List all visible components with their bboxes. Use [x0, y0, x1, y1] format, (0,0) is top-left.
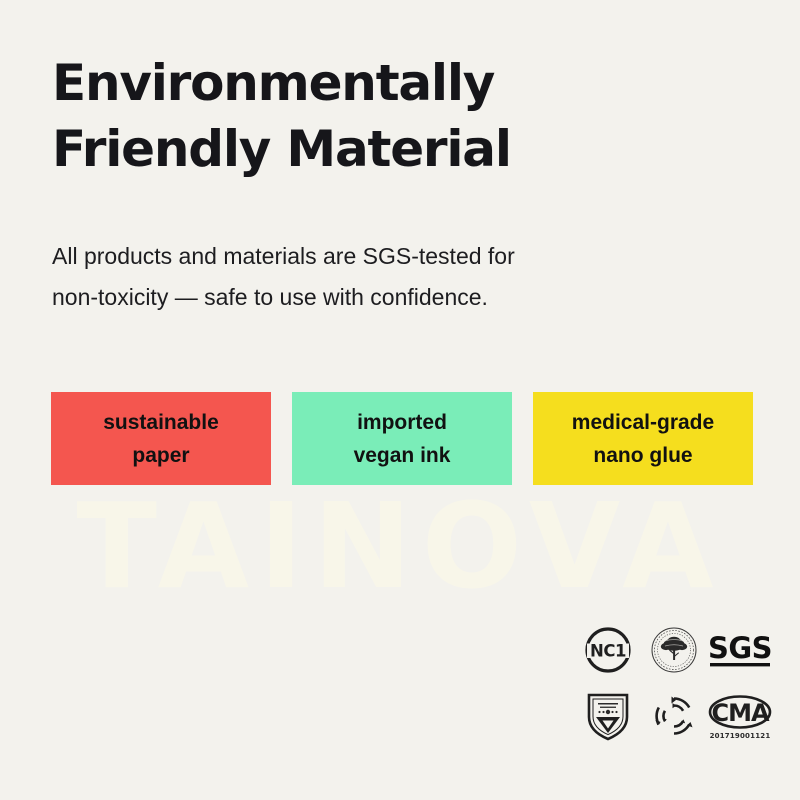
cma-mark-icon: CMA 201719001121: [707, 686, 773, 746]
material-tag-label-line-1: medical-grade: [572, 406, 714, 439]
certification-row-bottom: CMA 201719001121: [575, 686, 780, 746]
page-subtitle-line-2: non-toxicity — safe to use with confiden…: [52, 277, 672, 318]
material-tag-medical-grade-nano-glue: medical-grade nano glue: [533, 392, 753, 485]
material-tag-label-line-1: imported: [357, 406, 447, 439]
page-subtitle: All products and materials are SGS-teste…: [52, 236, 672, 318]
certification-badge-group: NC1: [575, 620, 780, 748]
cma-certificate-number: 201719001121: [710, 732, 771, 740]
poster-canvas: TAINOVA Environmentally Friendly Materia…: [0, 0, 800, 800]
svg-text:NC1: NC1: [590, 641, 626, 660]
sgs-label: SGS: [708, 631, 772, 665]
recycle-arrows-icon: [641, 686, 707, 746]
shield-badge-icon: [575, 686, 641, 746]
material-tag-label-line-2: paper: [132, 439, 189, 472]
sgs-wordmark-icon: SGS: [707, 620, 773, 680]
certification-row-top: NC1: [575, 620, 780, 680]
material-tag-label-line-2: vegan ink: [354, 439, 451, 472]
material-tag-label-line-2: nano glue: [593, 439, 692, 472]
page-subtitle-line-1: All products and materials are SGS-teste…: [52, 236, 672, 277]
page-title-line-2: Friendly Material: [52, 116, 732, 182]
brand-watermark: TAINOVA: [0, 487, 800, 605]
material-tag-sustainable-paper: sustainable paper: [51, 392, 271, 485]
material-tag-label-line-1: sustainable: [103, 406, 219, 439]
cma-label: CMA: [711, 699, 769, 727]
page-title: Environmentally Friendly Material: [52, 50, 732, 182]
material-tag-row: sustainable paper imported vegan ink med…: [51, 392, 753, 485]
nc1-circle-icon: NC1: [575, 620, 641, 680]
page-title-line-1: Environmentally: [52, 50, 732, 116]
material-tag-imported-vegan-ink: imported vegan ink: [292, 392, 512, 485]
tree-seal-icon: [641, 620, 707, 680]
